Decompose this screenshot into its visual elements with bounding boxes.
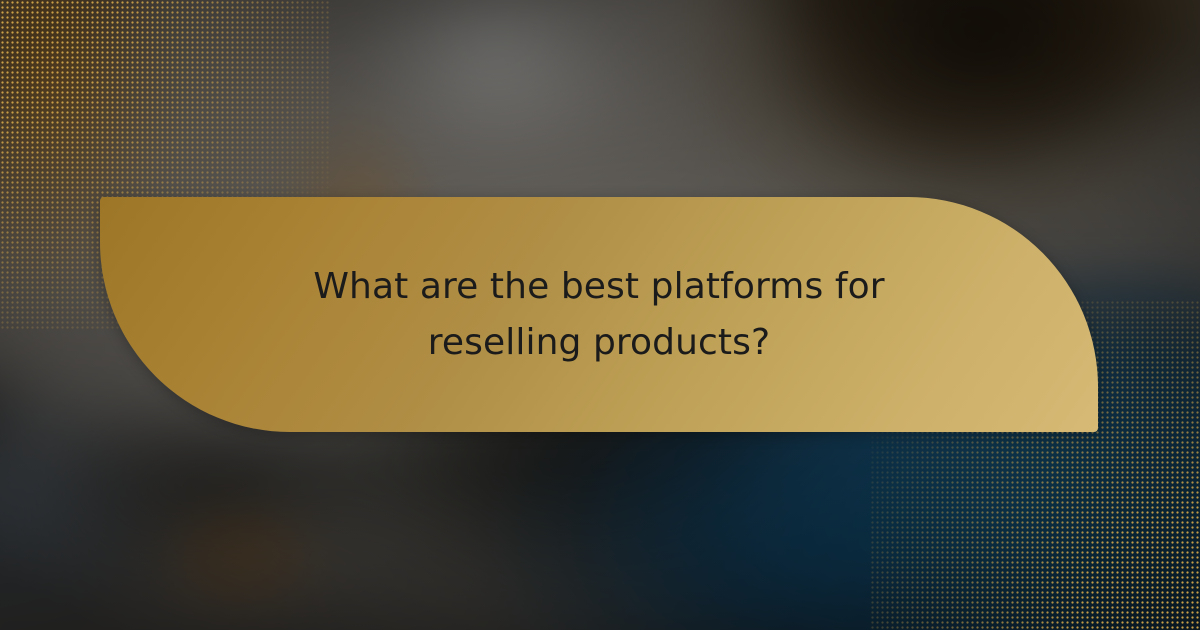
poster-canvas: What are the best platforms for resellin… <box>0 0 1200 630</box>
page-title: What are the best platforms for resellin… <box>250 259 948 369</box>
title-banner: What are the best platforms for resellin… <box>100 197 1098 432</box>
title-banner-content: What are the best platforms for resellin… <box>100 197 1098 432</box>
